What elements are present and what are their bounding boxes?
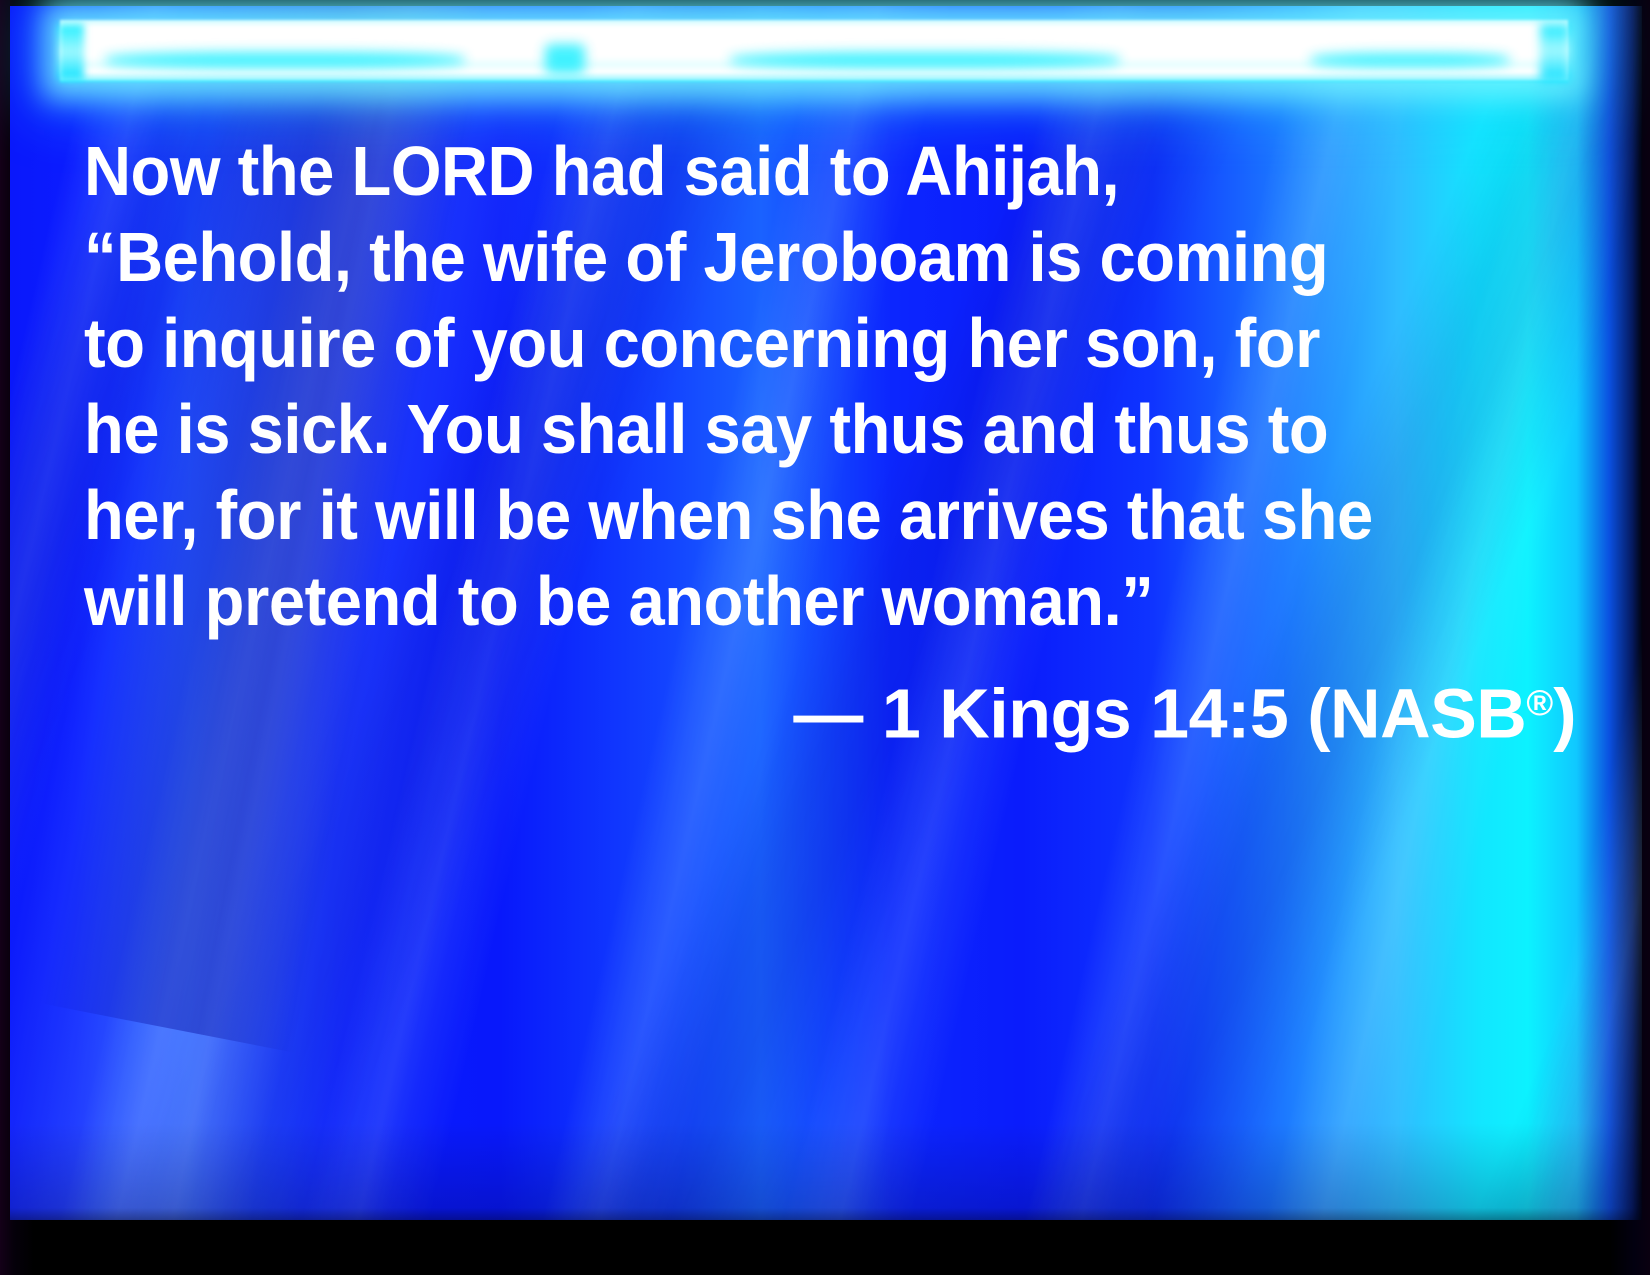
- verse-line-4: he is sick. You shall say thus and thus …: [84, 386, 1479, 472]
- verse-line-1: Now the LORD had said to Ahijah,: [84, 128, 1479, 214]
- citation-reference: 14:5: [1150, 675, 1288, 753]
- header-glow-highlight-right: [1310, 53, 1510, 67]
- citation-book: 1 Kings: [882, 675, 1131, 753]
- header-glow-edge-left: [58, 24, 84, 80]
- citation-version-close: ): [1553, 675, 1576, 753]
- registered-trademark-icon: ®: [1526, 682, 1553, 723]
- citation-spacer: [863, 675, 882, 753]
- header-glow-highlight-center: [545, 44, 585, 74]
- verse-citation: — 1 Kings 14:5 (NASB®): [84, 660, 1584, 757]
- verse-line-6: will pretend to be another woman.”: [84, 558, 1479, 644]
- citation-version-open: (NASB: [1307, 675, 1526, 753]
- verse-line-2: “Behold, the wife of Jeroboam is coming: [84, 214, 1479, 300]
- verse-line-3: to inquire of you concerning her son, fo…: [84, 300, 1479, 386]
- verse-text-block: Now the LORD had said to Ahijah, “Behold…: [84, 128, 1584, 757]
- citation-spacer-2: [1131, 675, 1150, 753]
- header-glow-highlight-mid-right: [730, 52, 1120, 68]
- header-glow-highlight-left: [105, 52, 465, 68]
- citation-spacer-3: [1288, 675, 1307, 753]
- citation-dash: —: [793, 675, 863, 753]
- header-glow-banner: [60, 20, 1568, 82]
- header-glow-edge-right: [1540, 24, 1570, 82]
- verse-line-5: her, for it will be when she arrives tha…: [84, 472, 1479, 558]
- bible-verse-slide: Now the LORD had said to Ahijah, “Behold…: [0, 0, 1650, 1275]
